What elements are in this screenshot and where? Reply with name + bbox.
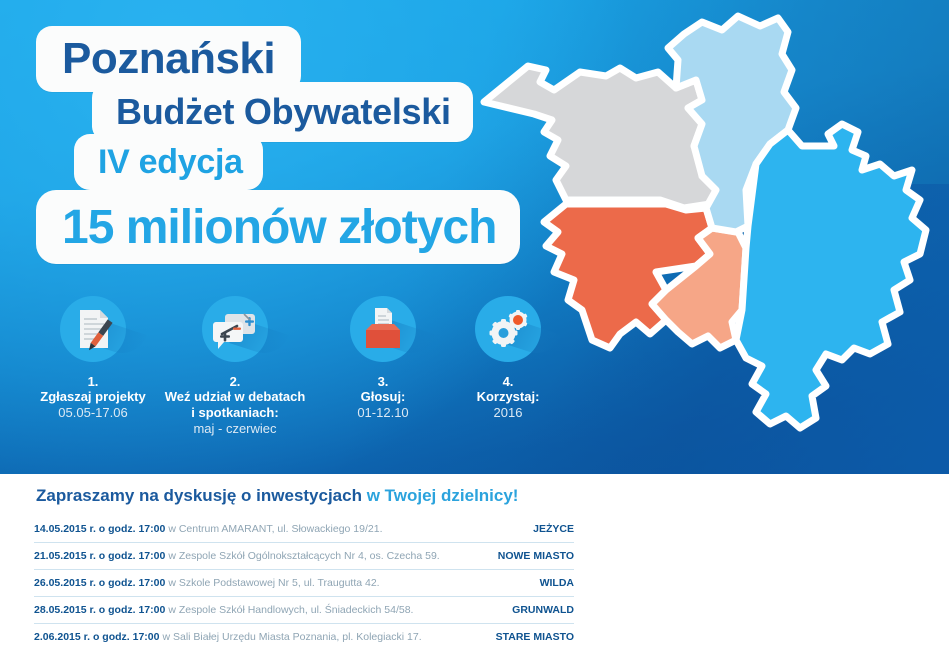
step-4[interactable]: 4. Korzystaj: 2016 [442,296,574,421]
meeting-district: STARE MIASTO [496,624,574,650]
step-2-label-line2: i spotkaniach: [146,405,324,421]
meeting-where: w Sali Białej Urzędu Miasta Poznania, pl… [162,631,421,643]
meeting-row[interactable]: 2.06.2015 r. o godz. 17:00w Sali Białej … [34,624,574,650]
title-box-line4: 15 milionów złotych [36,190,520,264]
meeting-when: 21.05.2015 r. o godz. 17:00 [34,550,165,562]
step-3-sub: 01-12.10 [318,405,448,421]
step-2-disc [202,296,268,362]
meeting-where: w Zespole Szkół Handlowych, ul. Śniadeck… [168,604,413,616]
bottom-panel: Zapraszamy na dyskusję o inwestycjach w … [0,474,949,659]
title-line4: 15 milionów złotych [62,200,496,255]
invite-heading-main: Zapraszamy na dyskusję o inwestycjach [36,486,367,505]
title-line3: IV edycja [98,143,243,182]
meeting-district: NOWE MIASTO [498,543,574,569]
meeting-row[interactable]: 26.05.2015 r. o godz. 17:00w Szkole Pods… [34,570,574,597]
step-4-sub: 2016 [442,405,574,421]
meeting-when: 26.05.2015 r. o godz. 17:00 [34,577,165,589]
hero-panel: Poznański Budżet Obywatelski IV edycja 1… [0,0,949,474]
step-3[interactable]: 3. Głosuj: 01-12.10 [318,296,448,421]
step-4-number: 4. [442,374,574,389]
meeting-where: w Centrum AMARANT, ul. Słowackiego 19/21… [168,523,382,535]
ballot-box-icon [350,296,416,362]
invite-heading-highlight: w Twojej dzielnicy! [367,486,519,505]
meeting-when: 14.05.2015 r. o godz. 17:00 [34,523,165,535]
step-3-disc [350,296,416,362]
step-1-disc [60,296,126,362]
meeting-district: GRUNWALD [512,597,574,623]
step-4-label: Korzystaj: [442,389,574,405]
meeting-row[interactable]: 21.05.2015 r. o godz. 17:00w Zespole Szk… [34,543,574,570]
meeting-when: 2.06.2015 r. o godz. 17:00 [34,631,159,643]
meeting-row[interactable]: 28.05.2015 r. o godz. 17:00w Zespole Szk… [34,597,574,624]
poster-root: Poznański Budżet Obywatelski IV edycja 1… [0,0,949,659]
title-box-line2: Budżet Obywatelski [92,82,473,142]
meetings-list: 14.05.2015 r. o godz. 17:00w Centrum AMA… [34,516,574,650]
invite-heading: Zapraszamy na dyskusję o inwestycjach w … [36,486,518,506]
meeting-district: JEŻYCE [533,516,574,542]
gears-icon [475,296,541,362]
meeting-when: 28.05.2015 r. o godz. 17:00 [34,604,165,616]
meeting-where: w Szkole Podstawowej Nr 5, ul. Traugutta… [168,577,379,589]
step-3-label: Głosuj: [318,389,448,405]
meeting-district: WILDA [540,570,574,596]
step-4-disc [475,296,541,362]
document-pen-icon [60,296,126,362]
title-line1: Poznański [62,34,275,84]
step-2[interactable]: 2. Weź udział w debatach i spotkaniach: … [146,296,324,437]
map-district-nowe-miasto[interactable] [736,124,926,428]
steps-row: 1. Zgłaszaj projekty 05.05-17.06 [18,296,574,456]
title-line2: Budżet Obywatelski [116,91,451,133]
step-3-number: 3. [318,374,448,389]
step-2-number: 2. [146,374,324,389]
step-2-label-line1: Weź udział w debatach [146,389,324,405]
title-box-line3: IV edycja [74,134,263,190]
meeting-where: w Zespole Szkół Ogólnokształcących Nr 4,… [168,550,439,562]
speech-bubbles-icon [202,296,268,362]
meeting-row[interactable]: 14.05.2015 r. o godz. 17:00w Centrum AMA… [34,516,574,543]
step-2-sub: maj - czerwiec [146,421,324,437]
